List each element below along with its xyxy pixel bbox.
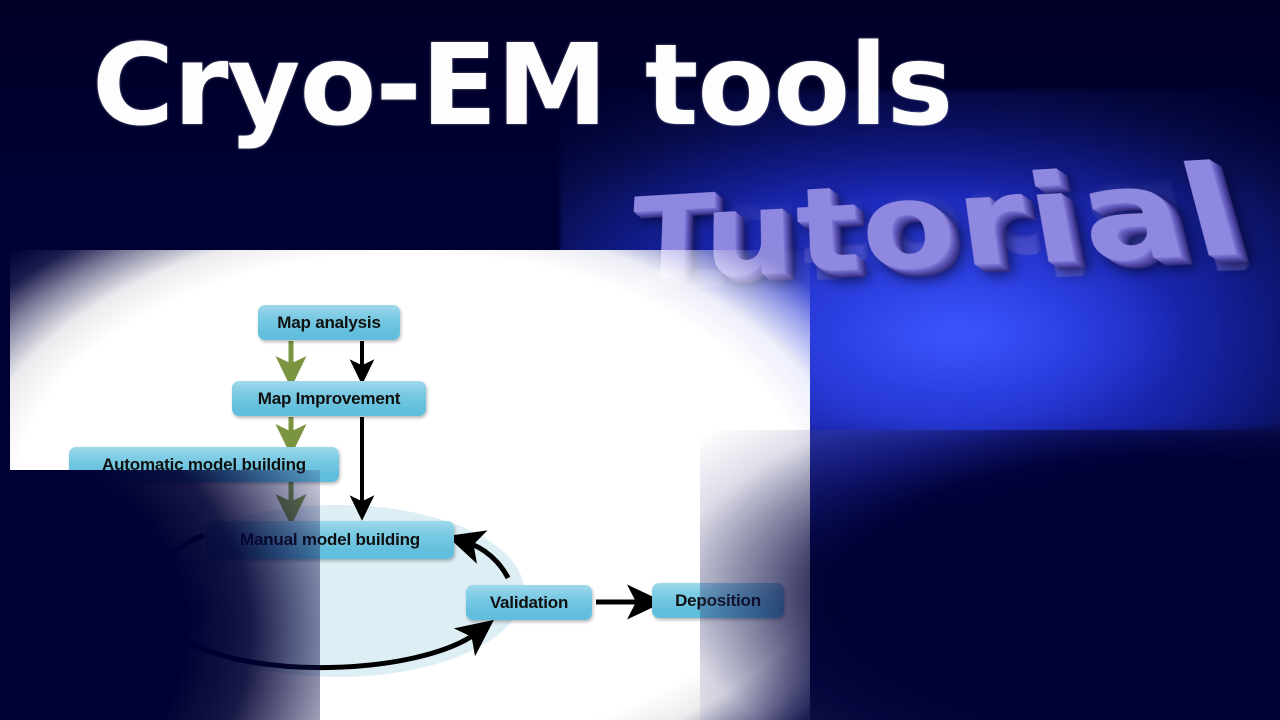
node-label: Map analysis xyxy=(277,313,380,333)
slide-canvas: Tutorial Tutorial xyxy=(0,0,1280,720)
node-automatic-model-building[interactable]: Automatic model building xyxy=(69,447,339,482)
node-label: Deposition xyxy=(675,591,761,611)
edge-validation-to-manual xyxy=(466,542,508,578)
node-label: Map Improvement xyxy=(258,389,400,409)
node-manual-model-building[interactable]: Manual model building xyxy=(206,521,454,559)
node-refinement[interactable]: Refinement xyxy=(76,588,206,623)
node-label: Refinement xyxy=(96,596,187,616)
node-map-improvement[interactable]: Map Improvement xyxy=(232,381,426,416)
node-label: Manual model building xyxy=(240,530,420,550)
node-map-analysis[interactable]: Map analysis xyxy=(258,305,400,340)
page-title: Cryo-EM tools xyxy=(92,28,952,146)
node-validation[interactable]: Validation xyxy=(466,585,592,620)
node-label: Automatic model building xyxy=(102,455,306,475)
node-label: Validation xyxy=(490,593,568,613)
edge-manual-to-refinement xyxy=(157,536,204,576)
node-deposition[interactable]: Deposition xyxy=(652,583,784,618)
edge-refinement-to-validation xyxy=(175,632,478,668)
